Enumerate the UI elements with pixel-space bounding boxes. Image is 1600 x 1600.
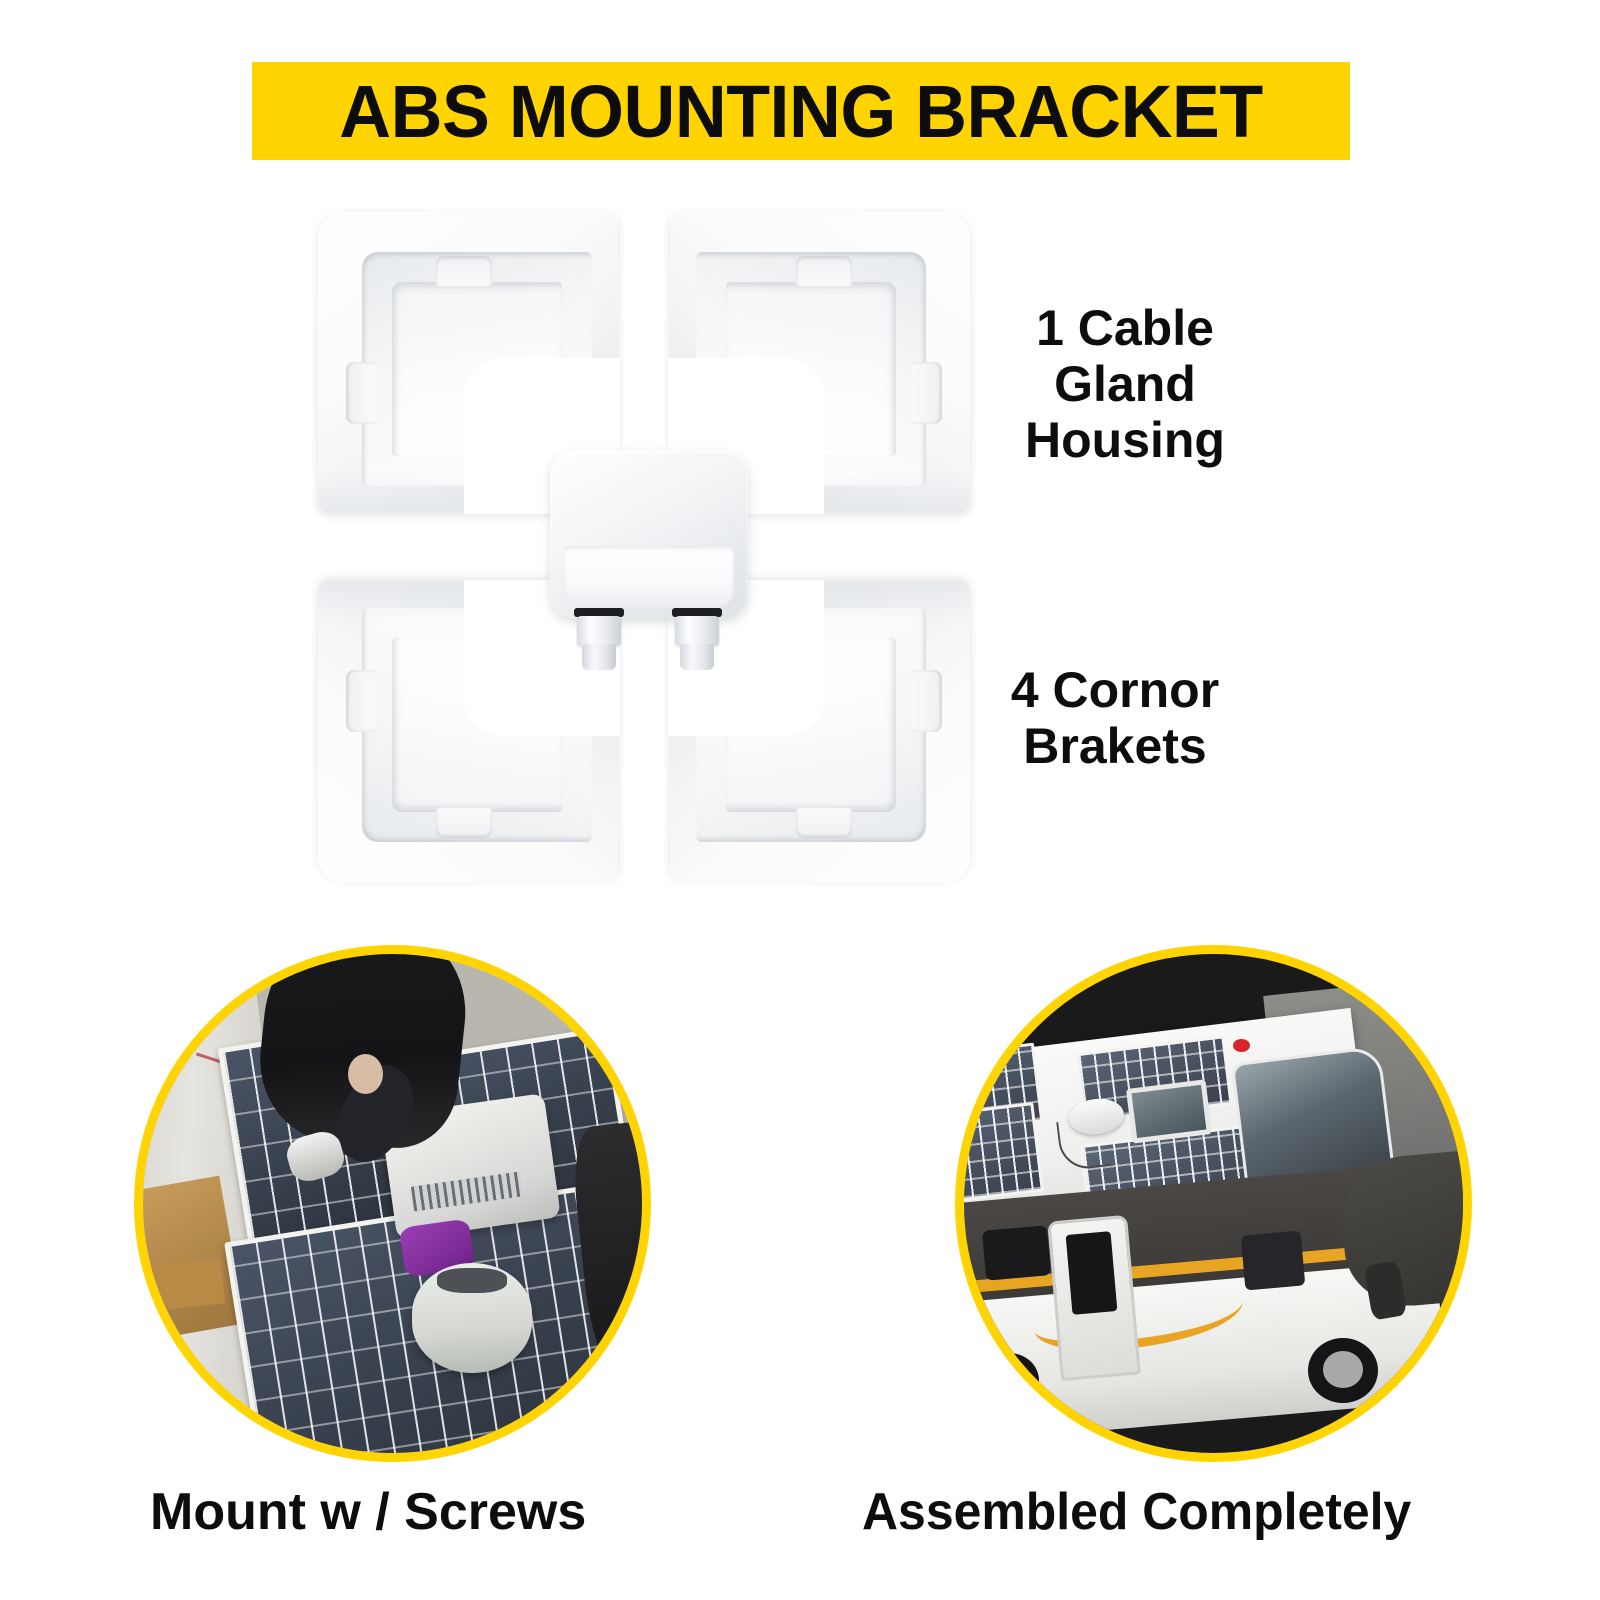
bracket-screw-tab-top	[796, 256, 852, 286]
side-window	[982, 1226, 1051, 1281]
cable-gland-housing	[550, 450, 748, 670]
bracket-screw-tab-top	[436, 808, 492, 838]
cable-gland-left	[574, 608, 624, 670]
page-title: ABS MOUNTING BRACKET	[339, 69, 1262, 154]
title-banner: ABS MOUNTING BRACKET	[252, 62, 1350, 160]
mount-with-screws-photo	[134, 945, 651, 1462]
product-hero-image	[318, 212, 978, 892]
product-infographic: ABS MOUNTING BRACKET	[0, 0, 1600, 1600]
vent-dome-handle	[437, 1268, 507, 1293]
bracket-screw-tab-side	[346, 670, 376, 732]
gland-hex-nut	[577, 616, 621, 646]
bracket-screw-tab-side	[346, 362, 376, 424]
cab-window	[1241, 1231, 1305, 1291]
bracket-screw-tab-top	[796, 808, 852, 838]
bracket-screw-tab-top	[436, 256, 492, 286]
cable-gland-housing-callout: 1 Cable Gland Housing	[960, 300, 1290, 468]
installer-hand	[348, 1054, 383, 1094]
mount-with-screws-caption: Mount w / Screws	[150, 1482, 586, 1542]
bracket-screw-tab-side	[912, 670, 942, 732]
motorhome-scene	[964, 954, 1463, 1453]
roof-skylight-hatch	[1126, 1079, 1212, 1143]
cable-gland-right	[672, 608, 722, 670]
gland-hex-nut	[675, 616, 719, 646]
gland-housing-lip	[564, 546, 734, 608]
rear-wheel-hub	[992, 1365, 1025, 1396]
assembled-completely-caption: Assembled Completely	[862, 1482, 1411, 1542]
assembled-completely-photo	[955, 945, 1472, 1462]
gland-cap	[582, 644, 616, 670]
corner-brackets-callout: 4 Cornor Brakets	[950, 662, 1280, 774]
gland-cap	[680, 644, 714, 670]
rv-roof-installation-scene	[143, 954, 642, 1453]
bracket-screw-tab-side	[912, 362, 942, 424]
solar-panel	[955, 1102, 1044, 1206]
door-window	[1065, 1232, 1117, 1315]
